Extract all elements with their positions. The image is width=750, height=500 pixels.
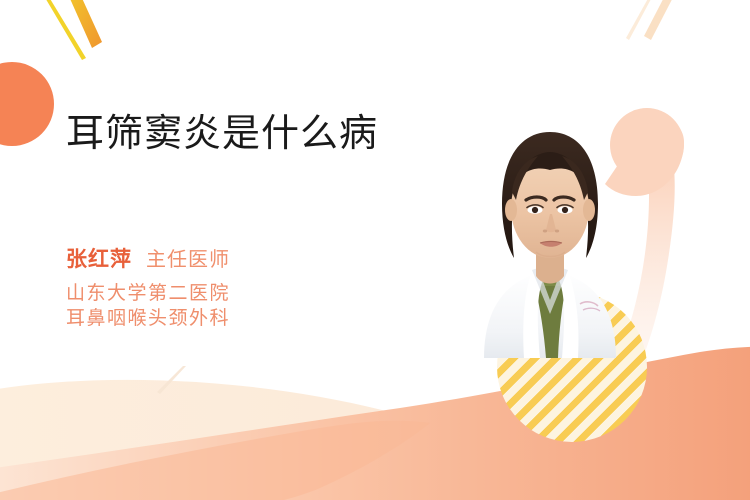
doctor-hospital: 山东大学第二医院 bbox=[66, 281, 230, 306]
top-right-stripe-thick bbox=[644, 0, 681, 40]
doctor-department: 耳鼻咽喉头颈外科 bbox=[66, 306, 230, 331]
doctor-info-block: 张红萍 主任医师 山东大学第二医院 耳鼻咽喉头颈外科 bbox=[66, 248, 230, 331]
wave-salmon-fold bbox=[0, 421, 430, 500]
top-right-stripe-thin bbox=[626, 0, 658, 40]
doctor-video-card: 耳筛窦炎是什么病 张红萍 主任医师 山东大学第二医院 耳鼻咽喉头颈外科 bbox=[0, 0, 750, 500]
doctor-name: 张红萍 bbox=[66, 248, 132, 272]
top-stripe-yellow-thin bbox=[31, 0, 86, 60]
page-title: 耳筛窦炎是什么病 bbox=[66, 110, 446, 158]
doctor-professional-title: 主任医师 bbox=[146, 248, 230, 272]
bottom-left-thin-stripe bbox=[157, 366, 186, 394]
doctor-portrait bbox=[440, 108, 660, 358]
doctor-name-row: 张红萍 主任医师 bbox=[66, 248, 230, 272]
title-block: 耳筛窦炎是什么病 bbox=[66, 110, 446, 158]
orange-circle-left bbox=[0, 62, 54, 146]
top-stripe-orange bbox=[59, 0, 102, 48]
